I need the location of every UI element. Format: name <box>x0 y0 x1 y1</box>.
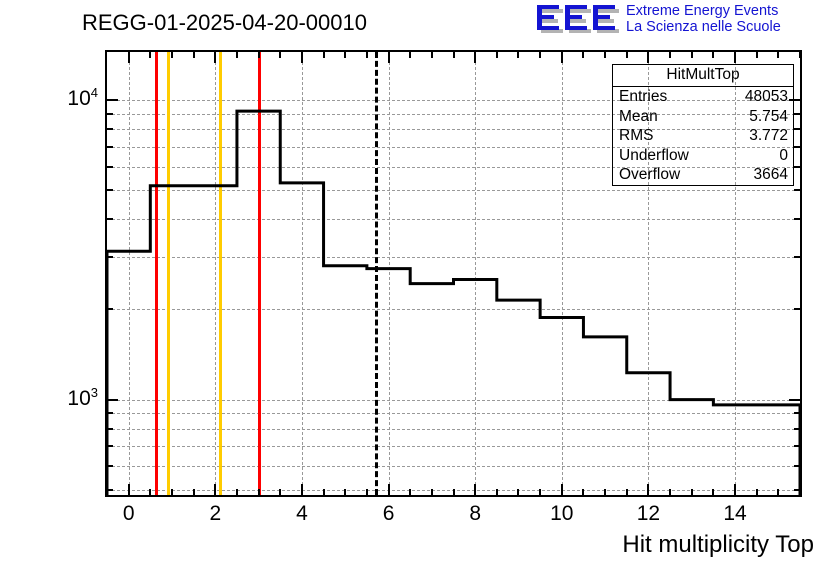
stats-row-value: 3664 <box>754 165 788 185</box>
x-tick-label: 8 <box>469 502 481 526</box>
y-tick-minor <box>107 308 113 310</box>
y-tick-minor <box>107 489 113 491</box>
x-tick-major <box>301 484 303 495</box>
stats-row-value: 0 <box>779 146 788 166</box>
y-tick-minor-right <box>794 166 800 168</box>
stats-row: Overflow3664 <box>613 165 793 185</box>
x-tick-minor <box>258 489 260 495</box>
x-tick-minor-top <box>669 52 671 58</box>
x-axis-title: Hit multiplicity Top <box>622 531 814 559</box>
x-tick-major-top <box>128 52 130 63</box>
x-tick-major-top <box>647 52 649 63</box>
eee-logo-line1: Extreme Energy Events <box>626 3 781 19</box>
x-tick-minor-top <box>193 52 195 58</box>
x-tick-minor-top <box>712 52 714 58</box>
y-tick-minor-right <box>794 218 800 220</box>
x-tick-minor <box>669 489 671 495</box>
x-tick-label: 2 <box>209 502 221 526</box>
x-tick-minor <box>539 489 541 495</box>
x-tick-label: 4 <box>296 502 308 526</box>
y-tick-minor-right <box>794 445 800 447</box>
eee-logo-line2: La Scienza nelle Scuole <box>626 19 781 35</box>
x-tick-minor-top <box>582 52 584 58</box>
stats-row-value: 48053 <box>745 87 788 107</box>
y-tick-label: 103 <box>44 385 98 411</box>
y-tick-minor-right <box>794 428 800 430</box>
y-tick-minor-right <box>794 465 800 467</box>
y-tick-minor <box>107 465 113 467</box>
y-tick-major <box>107 99 118 101</box>
stats-rows: Entries48053Mean5.754RMS3.772Underflow0O… <box>613 87 793 185</box>
stats-row-key: Overflow <box>619 165 680 185</box>
x-tick-minor-top <box>777 52 779 58</box>
x-tick-minor-top <box>517 52 519 58</box>
x-tick-minor <box>777 489 779 495</box>
page-title: REGG-01-2025-04-20-00010 <box>82 10 367 36</box>
stats-row: Underflow0 <box>613 146 793 166</box>
stats-row-value: 3.772 <box>749 126 788 146</box>
x-tick-major-top <box>388 52 390 63</box>
y-tick-minor-right <box>794 189 800 191</box>
x-tick-label: 14 <box>723 502 746 526</box>
x-tick-minor <box>236 489 238 495</box>
x-tick-minor-top <box>323 52 325 58</box>
x-tick-minor-top <box>691 52 693 58</box>
x-tick-minor-top <box>799 52 801 58</box>
x-tick-major <box>647 484 649 495</box>
x-tick-minor <box>517 489 519 495</box>
x-tick-minor <box>712 489 714 495</box>
x-tick-minor <box>626 489 628 495</box>
x-tick-major <box>128 484 130 495</box>
stats-row: Entries48053 <box>613 87 793 107</box>
y-tick-minor-right <box>794 308 800 310</box>
x-tick-minor <box>756 489 758 495</box>
plot-canvas: REGG-01-2025-04-20-00010 <box>0 0 836 572</box>
x-tick-minor <box>604 489 606 495</box>
y-tick-minor <box>107 428 113 430</box>
y-tick-minor <box>107 166 113 168</box>
x-tick-minor <box>149 489 151 495</box>
x-tick-major-top <box>474 52 476 63</box>
x-tick-label: 6 <box>383 502 395 526</box>
eee-logo: Extreme Energy Events La Scienza nelle S… <box>536 3 832 37</box>
x-tick-label: 0 <box>123 502 135 526</box>
stats-box-title: HitMultTop <box>613 65 793 87</box>
x-tick-minor <box>171 489 173 495</box>
eee-logo-icon <box>536 5 620 33</box>
x-tick-minor-top <box>366 52 368 58</box>
y-tick-major-right <box>789 399 800 401</box>
x-tick-major <box>734 484 736 495</box>
x-tick-minor-top <box>604 52 606 58</box>
x-tick-minor <box>344 489 346 495</box>
x-tick-label: 12 <box>637 502 660 526</box>
x-tick-minor-top <box>431 52 433 58</box>
x-tick-major-top <box>561 52 563 63</box>
x-tick-minor <box>582 489 584 495</box>
x-tick-major-top <box>301 52 303 63</box>
x-tick-label: 10 <box>550 502 573 526</box>
eee-logo-text: Extreme Energy Events La Scienza nelle S… <box>626 3 781 35</box>
x-tick-minor-top <box>279 52 281 58</box>
x-tick-minor-top <box>171 52 173 58</box>
x-tick-major-top <box>734 52 736 63</box>
y-tick-minor <box>107 113 113 115</box>
x-tick-minor-top <box>626 52 628 58</box>
y-tick-minor-right <box>794 146 800 148</box>
x-tick-minor <box>366 489 368 495</box>
x-tick-minor <box>453 489 455 495</box>
x-tick-major <box>474 484 476 495</box>
y-tick-minor <box>107 128 113 130</box>
x-tick-minor <box>691 489 693 495</box>
x-tick-minor <box>431 489 433 495</box>
x-tick-minor-top <box>344 52 346 58</box>
y-tick-minor <box>107 445 113 447</box>
stats-row-key: RMS <box>619 126 653 146</box>
y-tick-minor-right <box>794 128 800 130</box>
x-tick-minor <box>193 489 195 495</box>
stats-row-key: Underflow <box>619 146 689 166</box>
x-tick-minor-top <box>409 52 411 58</box>
stats-row-key: Entries <box>619 87 667 107</box>
stats-box: HitMultTop Entries48053Mean5.754RMS3.772… <box>612 64 794 186</box>
stats-row-value: 5.754 <box>749 107 788 127</box>
x-tick-major <box>561 484 563 495</box>
x-tick-minor-top <box>496 52 498 58</box>
y-tick-minor <box>107 256 113 258</box>
y-tick-minor <box>107 218 113 220</box>
x-tick-minor-top <box>149 52 151 58</box>
x-tick-minor-top <box>453 52 455 58</box>
y-tick-minor-right <box>794 489 800 491</box>
x-tick-major-top <box>214 52 216 63</box>
y-tick-minor-right <box>794 412 800 414</box>
x-tick-minor-top <box>756 52 758 58</box>
x-tick-minor <box>409 489 411 495</box>
x-tick-major <box>388 484 390 495</box>
y-tick-major <box>107 399 118 401</box>
y-tick-minor <box>107 189 113 191</box>
x-tick-minor-top <box>258 52 260 58</box>
x-tick-minor-top <box>236 52 238 58</box>
x-tick-minor <box>279 489 281 495</box>
x-tick-minor-top <box>539 52 541 58</box>
stats-row-key: Mean <box>619 107 658 127</box>
stats-row: RMS3.772 <box>613 126 793 146</box>
y-tick-label: 104 <box>44 85 98 111</box>
x-tick-major <box>214 484 216 495</box>
x-tick-minor <box>323 489 325 495</box>
y-tick-minor <box>107 412 113 414</box>
x-tick-minor <box>496 489 498 495</box>
stats-row: Mean5.754 <box>613 107 793 127</box>
y-tick-minor-right <box>794 256 800 258</box>
y-tick-minor-right <box>794 113 800 115</box>
y-tick-minor <box>107 146 113 148</box>
